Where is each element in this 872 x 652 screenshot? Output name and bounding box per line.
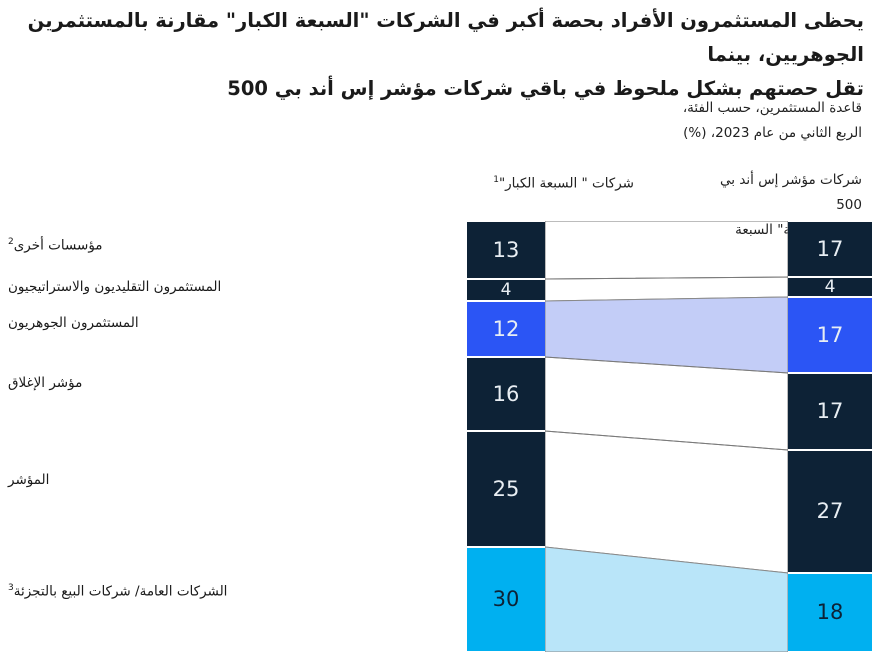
sp500-bar-segment: 16 xyxy=(467,357,545,431)
sp500-bar-segment-value: 4 xyxy=(501,282,512,299)
sp500-bar-segment: 13 xyxy=(467,221,545,279)
flow-ribbon xyxy=(545,547,788,652)
mag7-bar-segment: 18 xyxy=(788,573,872,652)
flow-ribbon xyxy=(545,221,788,279)
mag7-bar-segment: 17 xyxy=(788,297,872,373)
bar-column-mag7: 17417172718 xyxy=(788,221,872,652)
mag7-bar-segment-value: 27 xyxy=(817,501,844,522)
sp500-bar-segment-value: 30 xyxy=(493,589,520,610)
mag7-bar-segment: 17 xyxy=(788,221,872,277)
sp500-bar-segment: 12 xyxy=(467,301,545,357)
sp500-bar-segment-value: 25 xyxy=(493,479,520,500)
mag7-bar-segment-value: 18 xyxy=(817,602,844,623)
title-line-1: يحظى المستثمرون الأفراد بحصة أكبر في الش… xyxy=(8,4,864,72)
chart-subtitle: قاعدة المستثمرين، حسب الفئة، الربع الثان… xyxy=(532,96,862,146)
sp500-bar-segment-value: 16 xyxy=(493,384,520,405)
mag7-bar-segment: 27 xyxy=(788,450,872,573)
mag7-bar-segment-value: 4 xyxy=(825,279,836,296)
sp500-bar-segment: 4 xyxy=(467,279,545,301)
mag7-bar-segment-value: 17 xyxy=(817,325,844,346)
subtitle-line-2: الربع الثاني من عام 2023، (%) xyxy=(532,121,862,146)
column-headers: شركات مؤشر إس أند بي 500 باستثناء شركة" … xyxy=(10,168,862,220)
sp500-bar-segment-value: 13 xyxy=(493,240,520,261)
flow-ribbons xyxy=(0,221,872,652)
sp500-bar-segment-value: 12 xyxy=(493,319,520,340)
column-header-mag7: شركات " السبعة الكبار"1 xyxy=(419,168,634,197)
bar-column-sp500-ex-mag7: 13412162530 xyxy=(467,221,545,652)
flow-ribbon xyxy=(545,297,788,373)
column-header-mag7-label: شركات " السبعة الكبار" xyxy=(499,176,634,192)
mag7-bar-segment: 4 xyxy=(788,277,872,297)
chart-plot-area: 13412162530 17417172718 xyxy=(0,221,872,652)
chart-title: يحظى المستثمرون الأفراد بحصة أكبر في الش… xyxy=(8,4,864,106)
mag7-bar-segment-value: 17 xyxy=(817,239,844,260)
column-header-sp500-line1: شركات مؤشر إس أند بي 500 xyxy=(702,168,862,218)
flow-ribbon xyxy=(545,357,788,450)
sp500-bar-segment: 25 xyxy=(467,431,545,547)
subtitle-line-1: قاعدة المستثمرين، حسب الفئة، xyxy=(532,96,862,121)
mag7-bar-segment-value: 17 xyxy=(817,401,844,422)
mag7-bar-segment: 17 xyxy=(788,373,872,450)
sp500-bar-segment: 30 xyxy=(467,547,545,652)
